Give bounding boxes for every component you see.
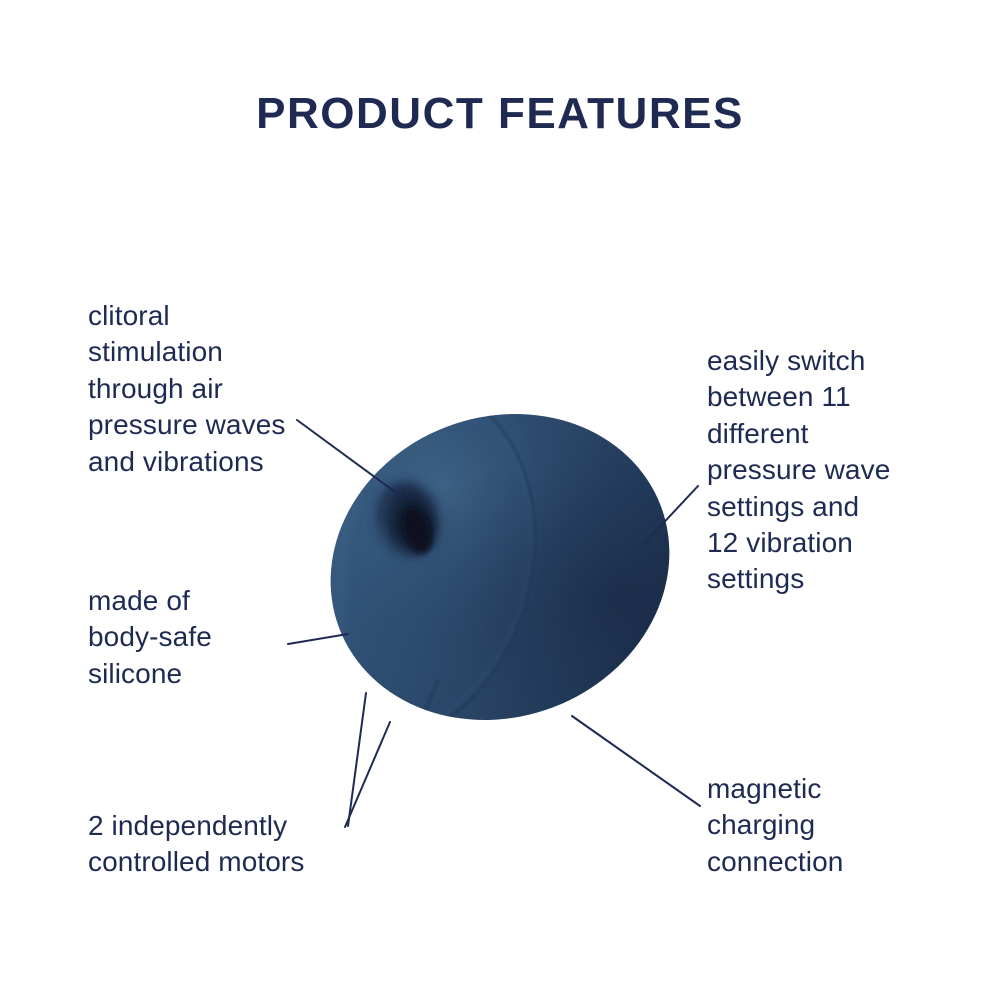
leader-line-settings [640,486,698,548]
leader-line-silicone [288,634,348,644]
leader-lines [0,0,1000,1000]
leader-line-air-pressure [297,420,402,497]
product-features-infographic: PRODUCT FEATURES [0,0,1000,1000]
leader-line-motor-1 [348,693,366,826]
leader-line-magnetic [572,716,700,806]
leader-line-motor-2 [345,722,390,827]
